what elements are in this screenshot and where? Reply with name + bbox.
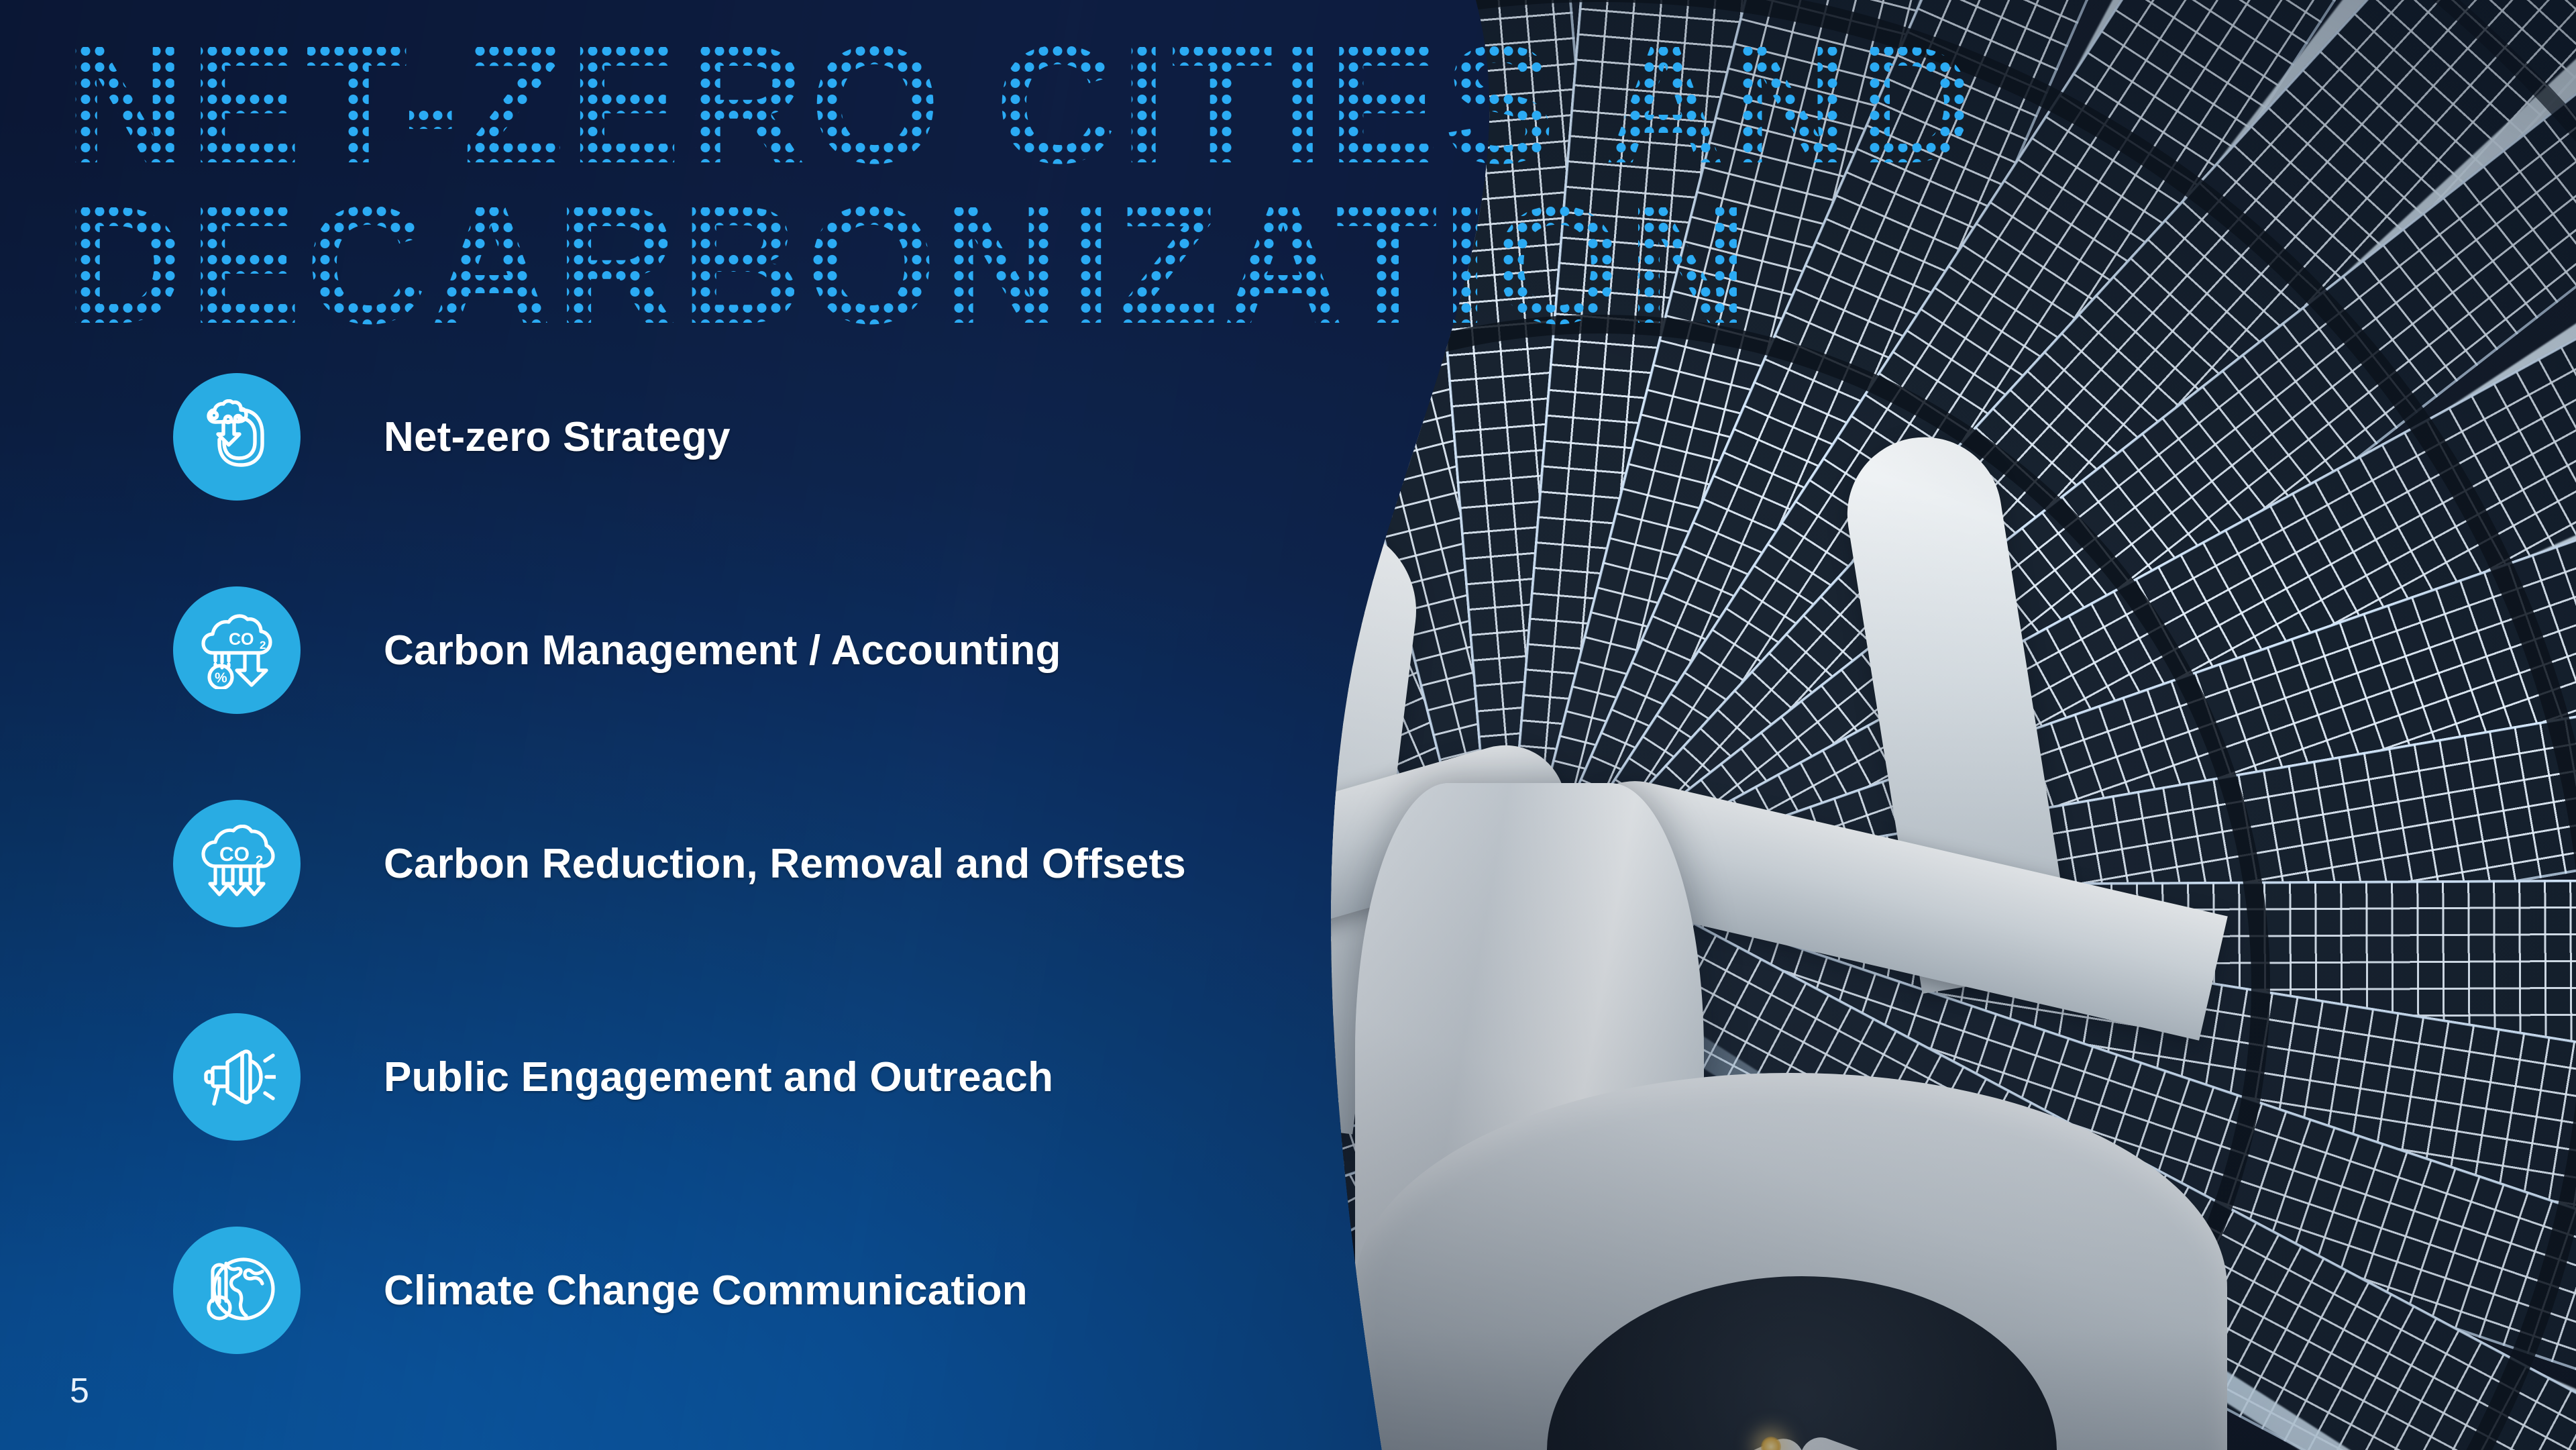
badge-public-engagement — [173, 1013, 301, 1141]
list-item-label: Public Engagement and Outreach — [384, 1053, 1053, 1101]
svg-text:CO: CO — [229, 630, 254, 649]
list-item[interactable]: CO 2 Carbon Reduction, Removal and Offse… — [173, 800, 1186, 927]
list-item[interactable]: Net-zero Strategy — [173, 373, 1186, 501]
svg-text:2: 2 — [260, 639, 266, 652]
title-line-2-text: DECARBONIZATION — [64, 187, 1752, 344]
badge-net-zero-strategy — [173, 373, 301, 501]
list-item[interactable]: CO 2 % Carbon Management / Accounting — [173, 586, 1186, 714]
list-item-label: Carbon Management / Accounting — [384, 627, 1061, 674]
list-item-label: Carbon Reduction, Removal and Offsets — [384, 840, 1186, 888]
badge-carbon-management: CO 2 % — [173, 586, 301, 714]
title-line-2: DECARBONIZATION — [64, 187, 1607, 344]
page-number: 5 — [70, 1371, 89, 1411]
title-line-1-text: NET-ZERO CITIES AND — [64, 27, 1980, 183]
list-item-label: Net-zero Strategy — [384, 413, 731, 461]
slide: NET-ZERO CITIES AND DECARBONIZATION — [0, 0, 2576, 1450]
title-line-1: NET-ZERO CITIES AND — [64, 27, 1607, 183]
megaphone-icon — [198, 1038, 276, 1116]
badge-carbon-reduction: CO 2 — [173, 800, 301, 927]
svg-text:CO: CO — [219, 843, 250, 866]
list-item[interactable]: Climate Change Communication — [173, 1227, 1186, 1354]
co2-cloud-three-arrows-icon: CO 2 — [198, 825, 276, 902]
badge-climate-communication — [173, 1227, 301, 1354]
list-item[interactable]: Public Engagement and Outreach — [173, 1013, 1186, 1141]
co2-cloud-percent-arrow-icon: CO 2 % — [198, 611, 276, 689]
list-item-label: Climate Change Communication — [384, 1267, 1028, 1314]
thermometer-globe-icon — [198, 1251, 276, 1329]
topic-list: Net-zero Strategy CO 2 % — [173, 373, 1186, 1354]
svg-text:%: % — [215, 670, 227, 686]
page-title: NET-ZERO CITIES AND DECARBONIZATION — [64, 27, 1607, 343]
cloud-arrow-loop-icon — [199, 399, 274, 474]
svg-text:2: 2 — [256, 853, 263, 868]
